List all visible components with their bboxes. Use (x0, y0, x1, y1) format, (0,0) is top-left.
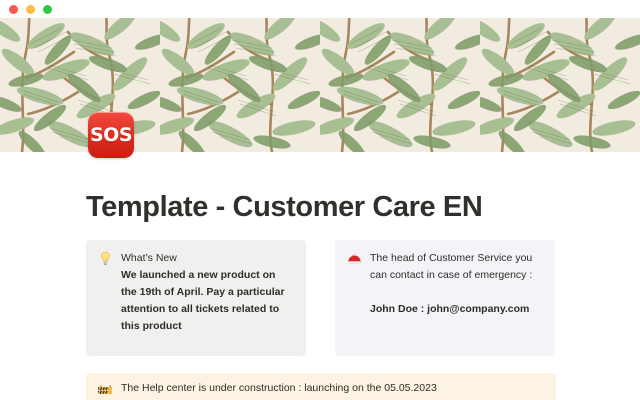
rescue-worker-helmet-icon (347, 251, 362, 266)
callout-row: What’s New We launched a new product on … (86, 240, 556, 356)
maximize-window-button[interactable] (43, 5, 52, 14)
callout-whats-new-body: What’s New We launched a new product on … (121, 250, 294, 335)
close-window-button[interactable] (9, 5, 18, 14)
callout-emergency-contact-lead: The head of Customer Service you can con… (370, 250, 543, 284)
light-bulb-icon (98, 251, 113, 266)
callout-whats-new[interactable]: What’s New We launched a new product on … (86, 240, 306, 356)
page-content: Template - Customer Care EN What’s New W… (0, 152, 640, 400)
app-window: SOS Template - Customer Care EN What’s N… (0, 0, 640, 400)
callout-whats-new-text: We launched a new product on the 19th of… (121, 267, 294, 335)
window-titlebar (0, 0, 640, 18)
banner-text: The Help center is under construction : … (121, 381, 437, 397)
callout-whats-new-lead: What’s New (121, 250, 294, 267)
minimize-window-button[interactable] (26, 5, 35, 14)
sos-button-label: SOS (90, 126, 132, 145)
callout-emergency-contact-person: John Doe : john@company.com (370, 301, 543, 318)
callout-emergency-contact[interactable]: The head of Customer Service you can con… (335, 240, 555, 356)
construction-icon (98, 382, 113, 397)
callout-help-center-construction[interactable]: The Help center is under construction : … (86, 373, 556, 400)
page-title[interactable]: Template - Customer Care EN (86, 192, 482, 224)
callout-spacer (370, 284, 543, 301)
callout-emergency-contact-body: The head of Customer Service you can con… (370, 250, 543, 318)
page-icon-sos-button[interactable]: SOS (88, 112, 134, 158)
